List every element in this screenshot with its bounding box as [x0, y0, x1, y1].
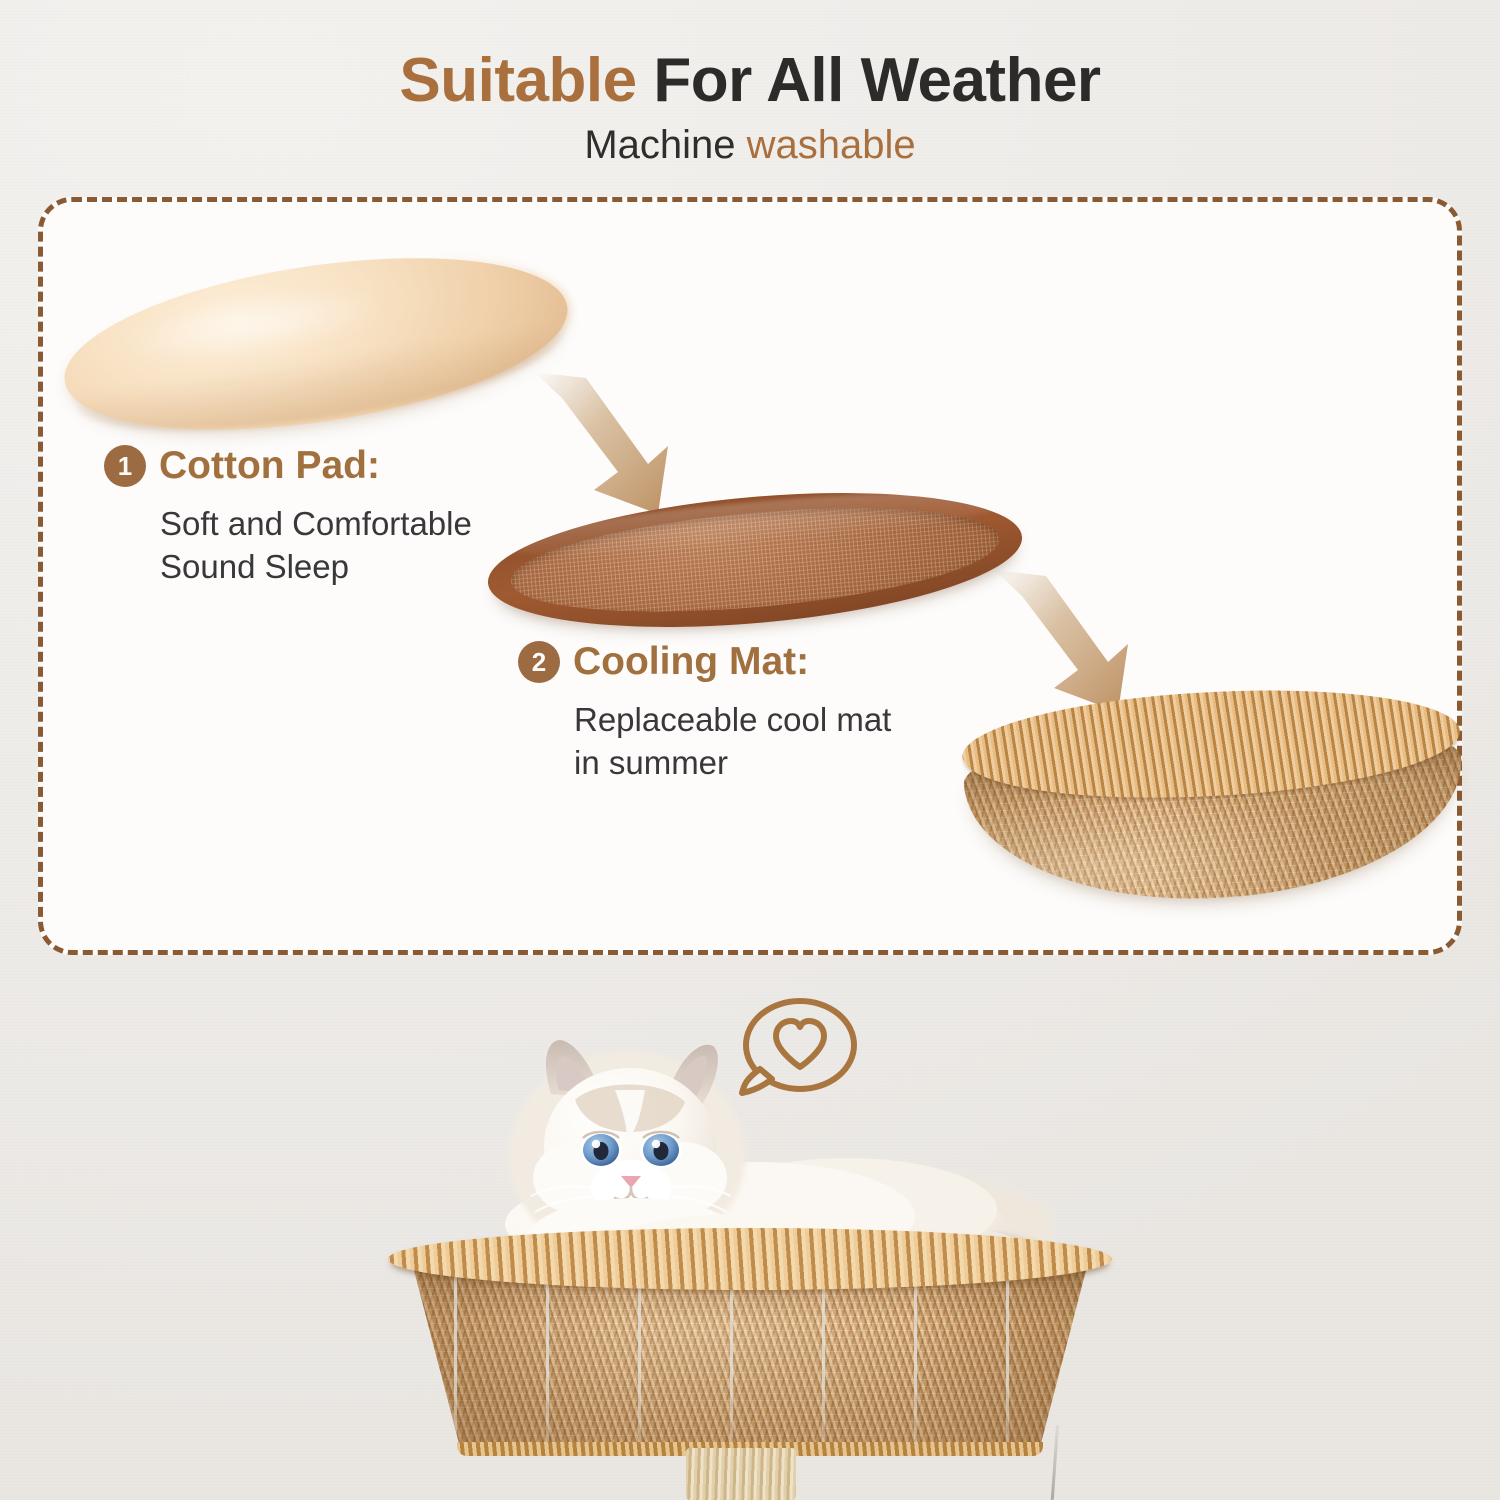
callout-cotton-pad: 1 Cotton Pad: Soft and Comfortable Sound… [104, 444, 472, 589]
woven-basket-image [960, 679, 1468, 917]
callout-number-badge-2: 2 [518, 641, 560, 683]
arrow-mat-to-basket-shape [994, 570, 1128, 712]
header: Suitable For All Weather Machine washabl… [0, 0, 1500, 168]
callout-cotton-pad-heading: 1 Cotton Pad: [104, 444, 472, 488]
callout-cooling-mat-body: Replaceable cool mat in summer [574, 699, 891, 785]
arrow-pad-to-mat-shape [534, 372, 668, 514]
infographic-canvas: Suitable For All Weather Machine washabl… [0, 0, 1500, 1500]
page-subtitle-dark: Machine [584, 123, 746, 167]
page-title: Suitable For All Weather [0, 48, 1500, 114]
callout-cooling-mat: 2 Cooling Mat: Replaceable cool mat in s… [518, 640, 891, 785]
cat-bed-basket-rim [388, 1228, 1112, 1290]
page-title-accent: Suitable [399, 46, 636, 115]
callout-cotton-pad-body: Soft and Comfortable Sound Sleep [160, 503, 472, 589]
callout-cooling-mat-title: Cooling Mat: [573, 640, 809, 684]
page-title-rest: For All Weather [637, 46, 1101, 115]
callout-cooling-mat-heading: 2 Cooling Mat: [518, 640, 891, 684]
callout-number-badge-1: 1 [104, 445, 146, 487]
sisal-scratching-post [686, 1448, 796, 1500]
page-subtitle: Machine washable [0, 122, 1500, 168]
page-subtitle-accent: washable [747, 123, 916, 167]
cat-bed-basket [388, 1228, 1112, 1458]
callout-cotton-pad-title: Cotton Pad: [159, 444, 380, 488]
